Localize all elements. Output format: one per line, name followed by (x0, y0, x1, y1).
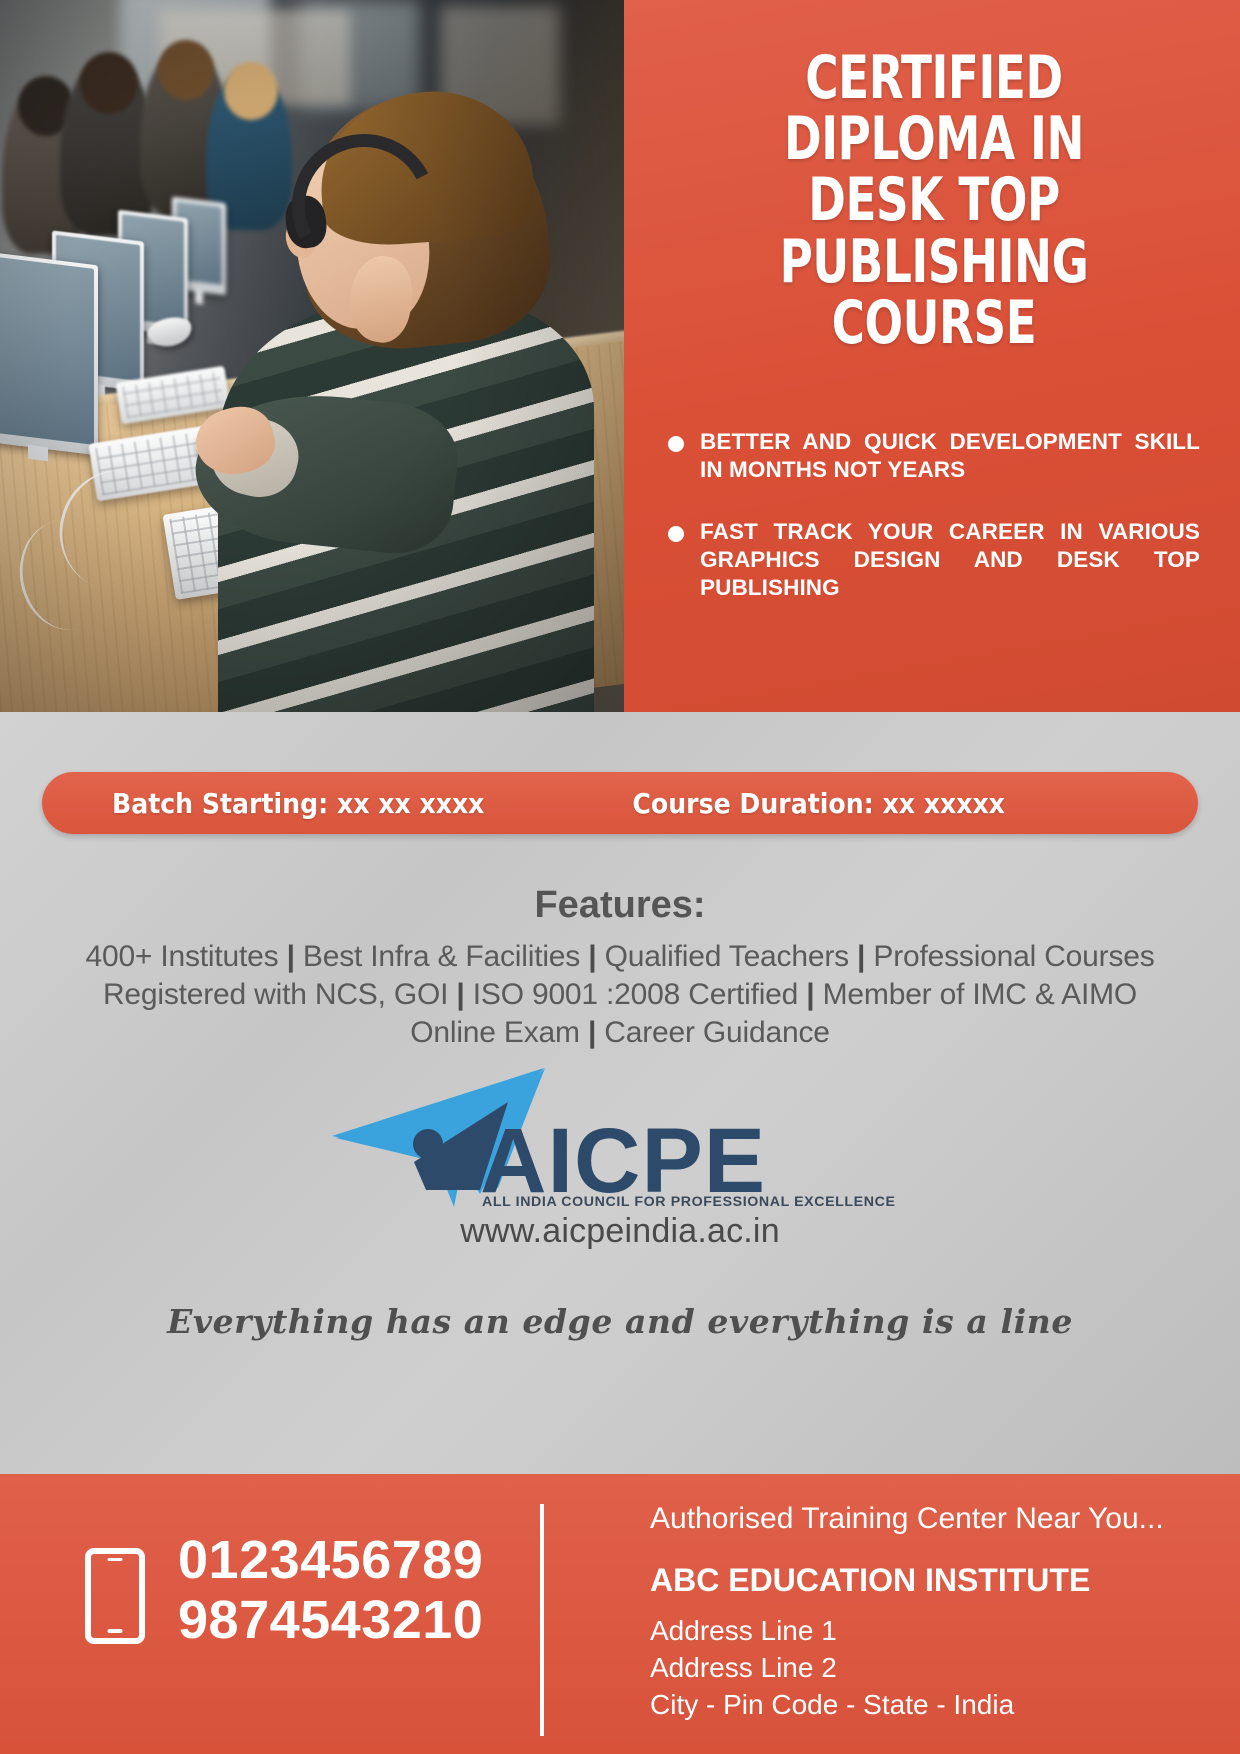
bullet-dot-icon (668, 436, 684, 452)
feature-separator: | (857, 940, 865, 973)
page-title-line-2: DESK TOP PUBLISHING (711, 170, 1158, 292)
info-section: Batch Starting: xx xx xxxx Course Durati… (0, 712, 1240, 1474)
address-line-3: City - Pin Code - State - India (650, 1686, 1014, 1723)
feature-item: ISO 9001 :2008 Certified (473, 978, 798, 1011)
feature-item: Online Exam (410, 1016, 580, 1049)
page-title-line-3: COURSE (711, 293, 1158, 354)
phone-number-primary[interactable]: 0123456789 (178, 1530, 483, 1590)
training-center-note: Authorised Training Center Near You... (650, 1502, 1164, 1536)
feature-item: Registered with NCS, GOI (103, 978, 448, 1011)
features-line-1: 400+ Institutes | Best Infra & Facilitie… (0, 940, 1240, 974)
phone-number-secondary[interactable]: 9874543210 (178, 1590, 483, 1650)
feature-item: 400+ Institutes (85, 940, 278, 973)
hero-section: CERTIFIED DIPLOMA IN DESK TOP PUBLISHING… (0, 0, 1240, 712)
schedule-banner: Batch Starting: xx xx xxxx Course Durati… (42, 772, 1198, 834)
classroom-photo (0, 0, 624, 712)
feature-item: Member of IMC & AIMO (823, 978, 1137, 1011)
list-item: BETTER AND QUICK DEVELOPMENT SKILL IN MO… (668, 428, 1200, 484)
logo-wordmark: AICPE (480, 1110, 766, 1207)
mobile-phone-icon (85, 1548, 145, 1644)
course-duration-label: Course Duration: xx xxxxx (632, 787, 1005, 820)
brand-tagline: Everything has an edge and everything is… (0, 1302, 1240, 1341)
footer-divider (540, 1504, 544, 1736)
feature-item: Career Guidance (604, 1016, 829, 1049)
feature-item: Best Infra & Facilities (303, 940, 580, 973)
features-line-2: Registered with NCS, GOI | ISO 9001 :200… (0, 978, 1240, 1012)
photo-vignette (0, 0, 624, 712)
address-line-2: Address Line 2 (650, 1649, 1014, 1686)
institute-address: Address Line 1 Address Line 2 City - Pin… (650, 1612, 1014, 1724)
logo-subtitle: ALL INDIA COUNCIL FOR PROFESSIONAL EXCEL… (482, 1194, 896, 1207)
logo-graphic: AICPE ALL INDIA COUNCIL FOR PROFESSIONAL… (330, 1062, 910, 1207)
features-heading: Features: (0, 884, 1240, 927)
feature-separator: | (588, 1016, 596, 1049)
feature-separator: | (806, 978, 814, 1011)
address-line-1: Address Line 1 (650, 1612, 1014, 1649)
phone-numbers: 0123456789 9874543210 (178, 1530, 483, 1651)
bullet-text: FAST TRACK YOUR CAREER IN VARIOUS GRAPHI… (700, 518, 1200, 630)
feature-item: Qualified Teachers (605, 940, 849, 973)
page-title: CERTIFIED DIPLOMA IN DESK TOP PUBLISHING… (711, 48, 1158, 354)
feature-separator: | (287, 940, 295, 973)
batch-starting-label: Batch Starting: xx xx xxxx (112, 787, 484, 820)
list-item: FAST TRACK YOUR CAREER IN VARIOUS GRAPHI… (668, 518, 1200, 630)
website-url[interactable]: www.aicpeindia.ac.in (0, 1212, 1240, 1251)
feature-item: Professional Courses (873, 940, 1154, 973)
bullet-text: BETTER AND QUICK DEVELOPMENT SKILL IN MO… (700, 428, 1200, 484)
institute-name: ABC EDUCATION INSTITUTE (650, 1562, 1090, 1599)
hero-bullet-list: BETTER AND QUICK DEVELOPMENT SKILL IN MO… (668, 428, 1200, 629)
feature-separator: | (456, 978, 464, 1011)
hero-text-panel: CERTIFIED DIPLOMA IN DESK TOP PUBLISHING… (624, 0, 1240, 712)
aicpe-logo: AICPE ALL INDIA COUNCIL FOR PROFESSIONAL… (330, 1062, 910, 1207)
page-title-line-1: CERTIFIED DIPLOMA IN (711, 48, 1158, 170)
bullet-dot-icon (668, 526, 684, 542)
features-line-3: Online Exam | Career Guidance (0, 1016, 1240, 1050)
feature-separator: | (588, 940, 596, 973)
